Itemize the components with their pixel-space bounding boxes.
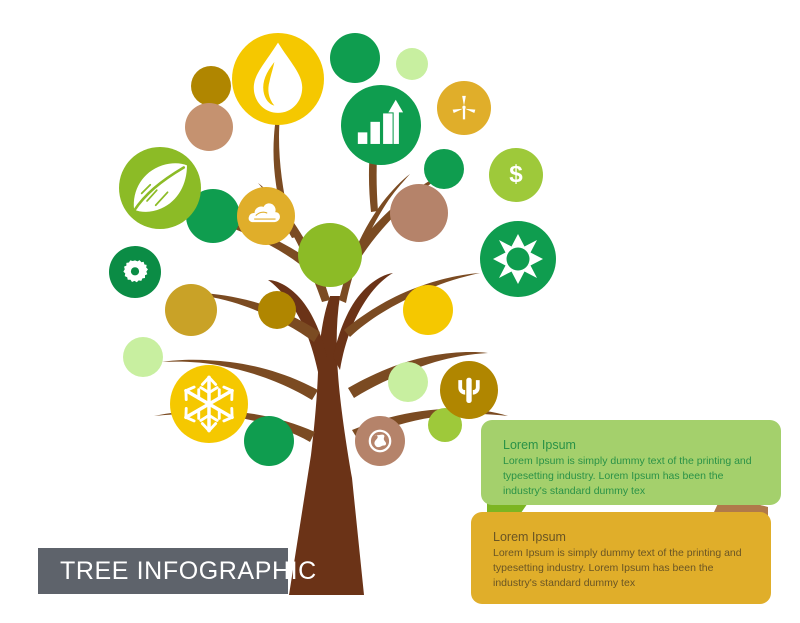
sun-icon[interactable] [480,221,556,297]
leaf-icon[interactable] [119,147,201,229]
infographic-canvas: $ [0,0,800,623]
tree-node-circle [185,103,233,151]
callout-yellow[interactable]: Lorem Ipsum Lorem Ipsum is simply dummy … [471,512,771,604]
snowflake-icon[interactable] [170,365,248,443]
tree-node-circle [165,284,217,336]
sun-icon-glyph [493,234,543,284]
callout-green-heading: Lorem Ipsum [503,438,759,452]
tree-node-circle [390,184,448,242]
globe-icon[interactable] [355,416,405,466]
callout-green-body: Lorem Ipsum is simply dummy text of the … [503,454,759,499]
page-title: TREE INFOGRAPHIC [38,557,317,586]
tree-node-circle [244,416,294,466]
dollar-icon-glyph [509,161,523,188]
title-banner: TREE INFOGRAPHIC [38,548,288,594]
growth-chart-icon[interactable] [341,85,421,165]
tree-trunk [289,296,364,595]
tree-node-circle [403,285,453,335]
growth-chart-icon-background [341,85,421,165]
tree-node-circle [424,149,464,189]
tree-node-circle [298,223,362,287]
callout-yellow-body: Lorem Ipsum is simply dummy text of the … [493,546,749,591]
callout-green[interactable]: Lorem Ipsum Lorem Ipsum is simply dummy … [481,420,781,505]
cloud-icon[interactable] [237,187,295,245]
tree-node-circle [388,362,428,402]
wind-turbine-icon[interactable] [437,81,491,135]
callout-yellow-heading: Lorem Ipsum [493,530,749,544]
tree-node-circle [123,337,163,377]
tree-node-circle [330,33,380,83]
tree-node-circle [396,48,428,80]
tree-node-circle [191,66,231,106]
gear-icon[interactable] [109,246,161,298]
dollar-icon[interactable] [489,148,543,202]
cactus-icon[interactable] [440,361,498,419]
water-drop-icon[interactable] [232,33,324,125]
tree-node-circle [258,291,296,329]
